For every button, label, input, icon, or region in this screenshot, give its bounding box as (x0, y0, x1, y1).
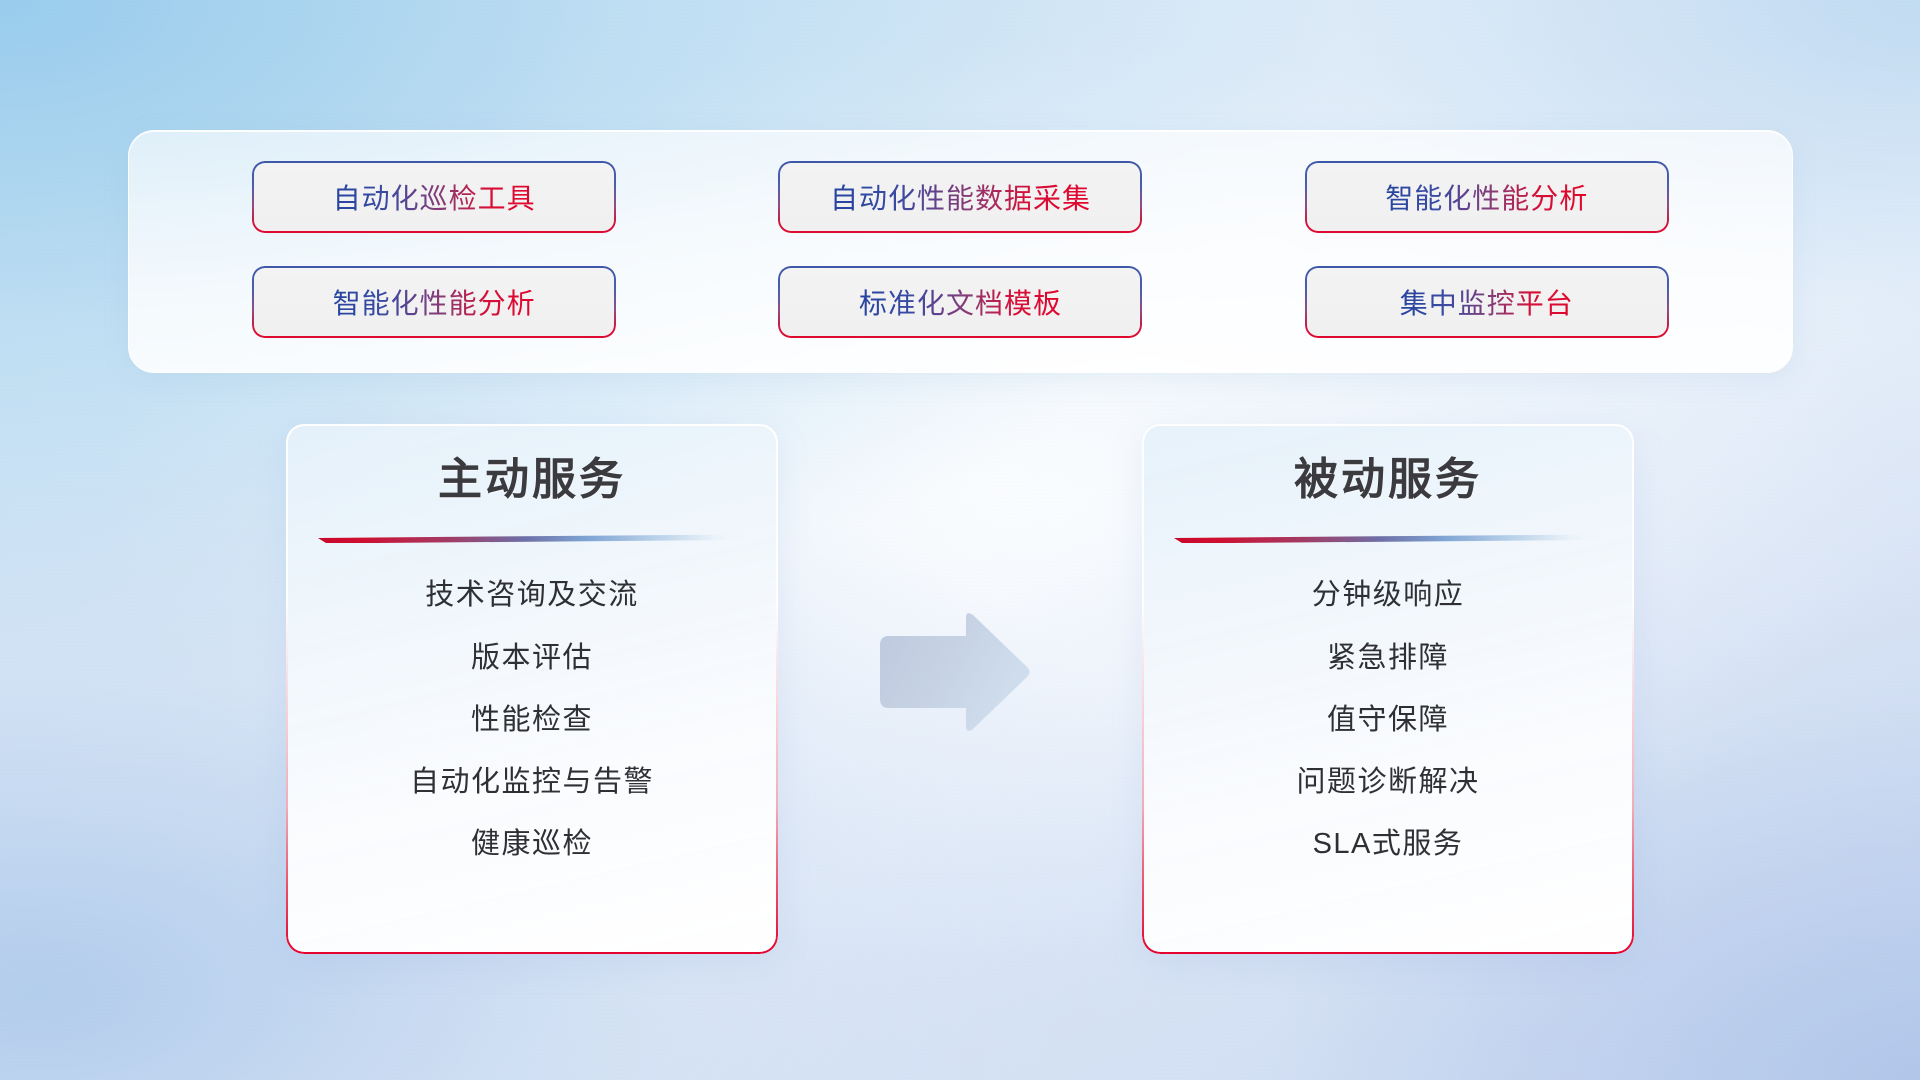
list-item: 值守保障 (1168, 702, 1608, 738)
capability-tag-6[interactable]: 集中监控平台 (1307, 268, 1667, 336)
right-arrow-icon (872, 612, 1032, 732)
list-item: 版本评估 (312, 640, 752, 676)
passive-service-title: 被动服务 (1168, 456, 1608, 504)
list-item: 自动化监控与告警 (312, 764, 752, 800)
capability-tag-2[interactable]: 自动化性能数据采集 (780, 163, 1140, 231)
title-divider (1174, 534, 1602, 543)
capability-tag-4[interactable]: 智能化性能分析 (254, 268, 614, 336)
capability-panel: 自动化巡检工具 自动化性能数据采集 智能化性能分析 智能化性能分析 标准化文档模… (128, 130, 1793, 373)
capability-tag-label: 智能化性能分析 (333, 282, 536, 322)
capability-tag-5[interactable]: 标准化文档模板 (780, 268, 1140, 336)
title-divider (318, 534, 746, 543)
passive-service-card: 被动服务 分钟级响应 紧急排障 值守保障 问题诊断解决 SLA式服务 (1142, 424, 1634, 954)
passive-service-list: 分钟级响应 紧急排障 值守保障 问题诊断解决 SLA式服务 (1168, 577, 1608, 862)
list-item: 性能检查 (312, 702, 752, 738)
capability-tag-3[interactable]: 智能化性能分析 (1307, 163, 1667, 231)
list-item: 紧急排障 (1168, 640, 1608, 676)
capability-tag-label: 自动化巡检工具 (333, 177, 536, 217)
list-item: SLA式服务 (1168, 826, 1608, 862)
list-item: 健康巡检 (312, 826, 752, 862)
capability-tag-label: 标准化文档模板 (859, 282, 1062, 322)
capability-tag-label: 集中监控平台 (1400, 282, 1574, 322)
capability-tag-label: 智能化性能分析 (1385, 177, 1588, 217)
capability-tag-1[interactable]: 自动化巡检工具 (254, 163, 614, 231)
capability-tag-label: 自动化性能数据采集 (830, 177, 1091, 217)
list-item: 技术咨询及交流 (312, 577, 752, 613)
list-item: 问题诊断解决 (1168, 764, 1608, 800)
diagram-canvas: 自动化巡检工具 自动化性能数据采集 智能化性能分析 智能化性能分析 标准化文档模… (0, 0, 1920, 1080)
active-service-title: 主动服务 (312, 456, 752, 504)
list-item: 分钟级响应 (1168, 577, 1608, 613)
active-service-list: 技术咨询及交流 版本评估 性能检查 自动化监控与告警 健康巡检 (312, 577, 752, 862)
active-service-card: 主动服务 技术咨询及交流 版本评估 性能检查 自动化监控与告警 健康巡检 (286, 424, 778, 954)
